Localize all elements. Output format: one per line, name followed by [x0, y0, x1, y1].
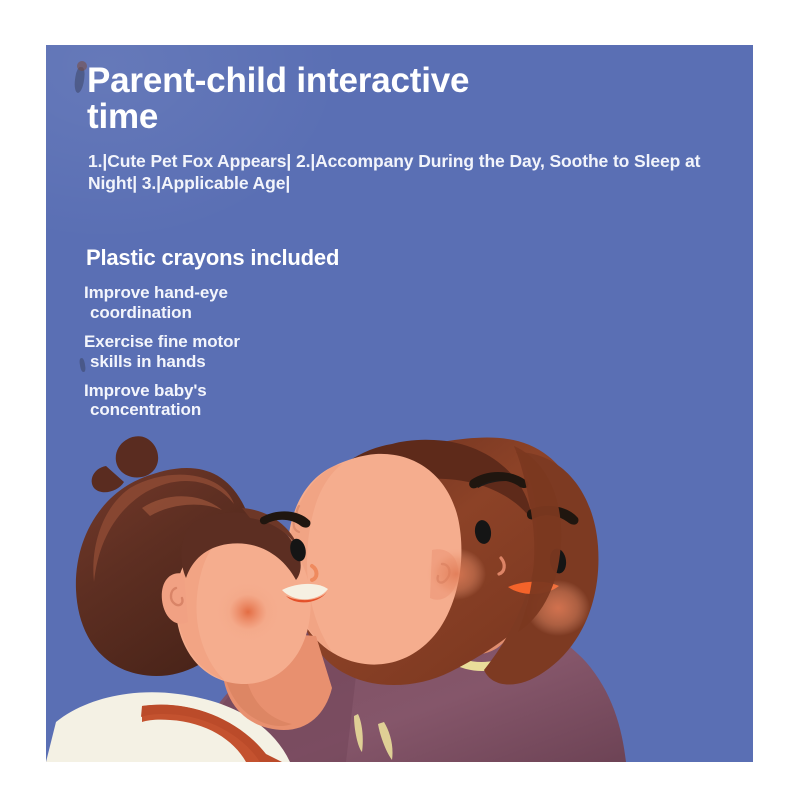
- benefit-line-2: concentration: [84, 400, 414, 420]
- subheading-crayons: Plastic crayons included: [86, 245, 339, 271]
- benefit-line-1: Improve baby's: [84, 381, 207, 400]
- benefit-item: Improve hand-eye coordination: [84, 283, 414, 323]
- benefit-line-2: skills in hands: [84, 352, 414, 372]
- page-canvas: Parent-child interactive time 1.|Cute Pe…: [0, 0, 800, 800]
- benefit-line-2: coordination: [84, 303, 414, 323]
- benefit-line-1: Improve hand-eye: [84, 283, 228, 302]
- page-title: Parent-child interactive time: [87, 63, 547, 134]
- benefits-list: Improve hand-eye coordination Exercise f…: [84, 283, 414, 429]
- benefit-line-1: Exercise fine motor: [84, 332, 240, 351]
- artifact-speck-upper-dot: [77, 61, 87, 71]
- feature-list-text: 1.|Cute Pet Fox Appears| 2.|Accompany Du…: [88, 150, 703, 195]
- text-layer: Parent-child interactive time 1.|Cute Pe…: [46, 45, 753, 762]
- benefit-item: Exercise fine motor skills in hands: [84, 332, 414, 372]
- product-card: Parent-child interactive time 1.|Cute Pe…: [46, 45, 753, 762]
- benefit-item: Improve baby's concentration: [84, 381, 414, 421]
